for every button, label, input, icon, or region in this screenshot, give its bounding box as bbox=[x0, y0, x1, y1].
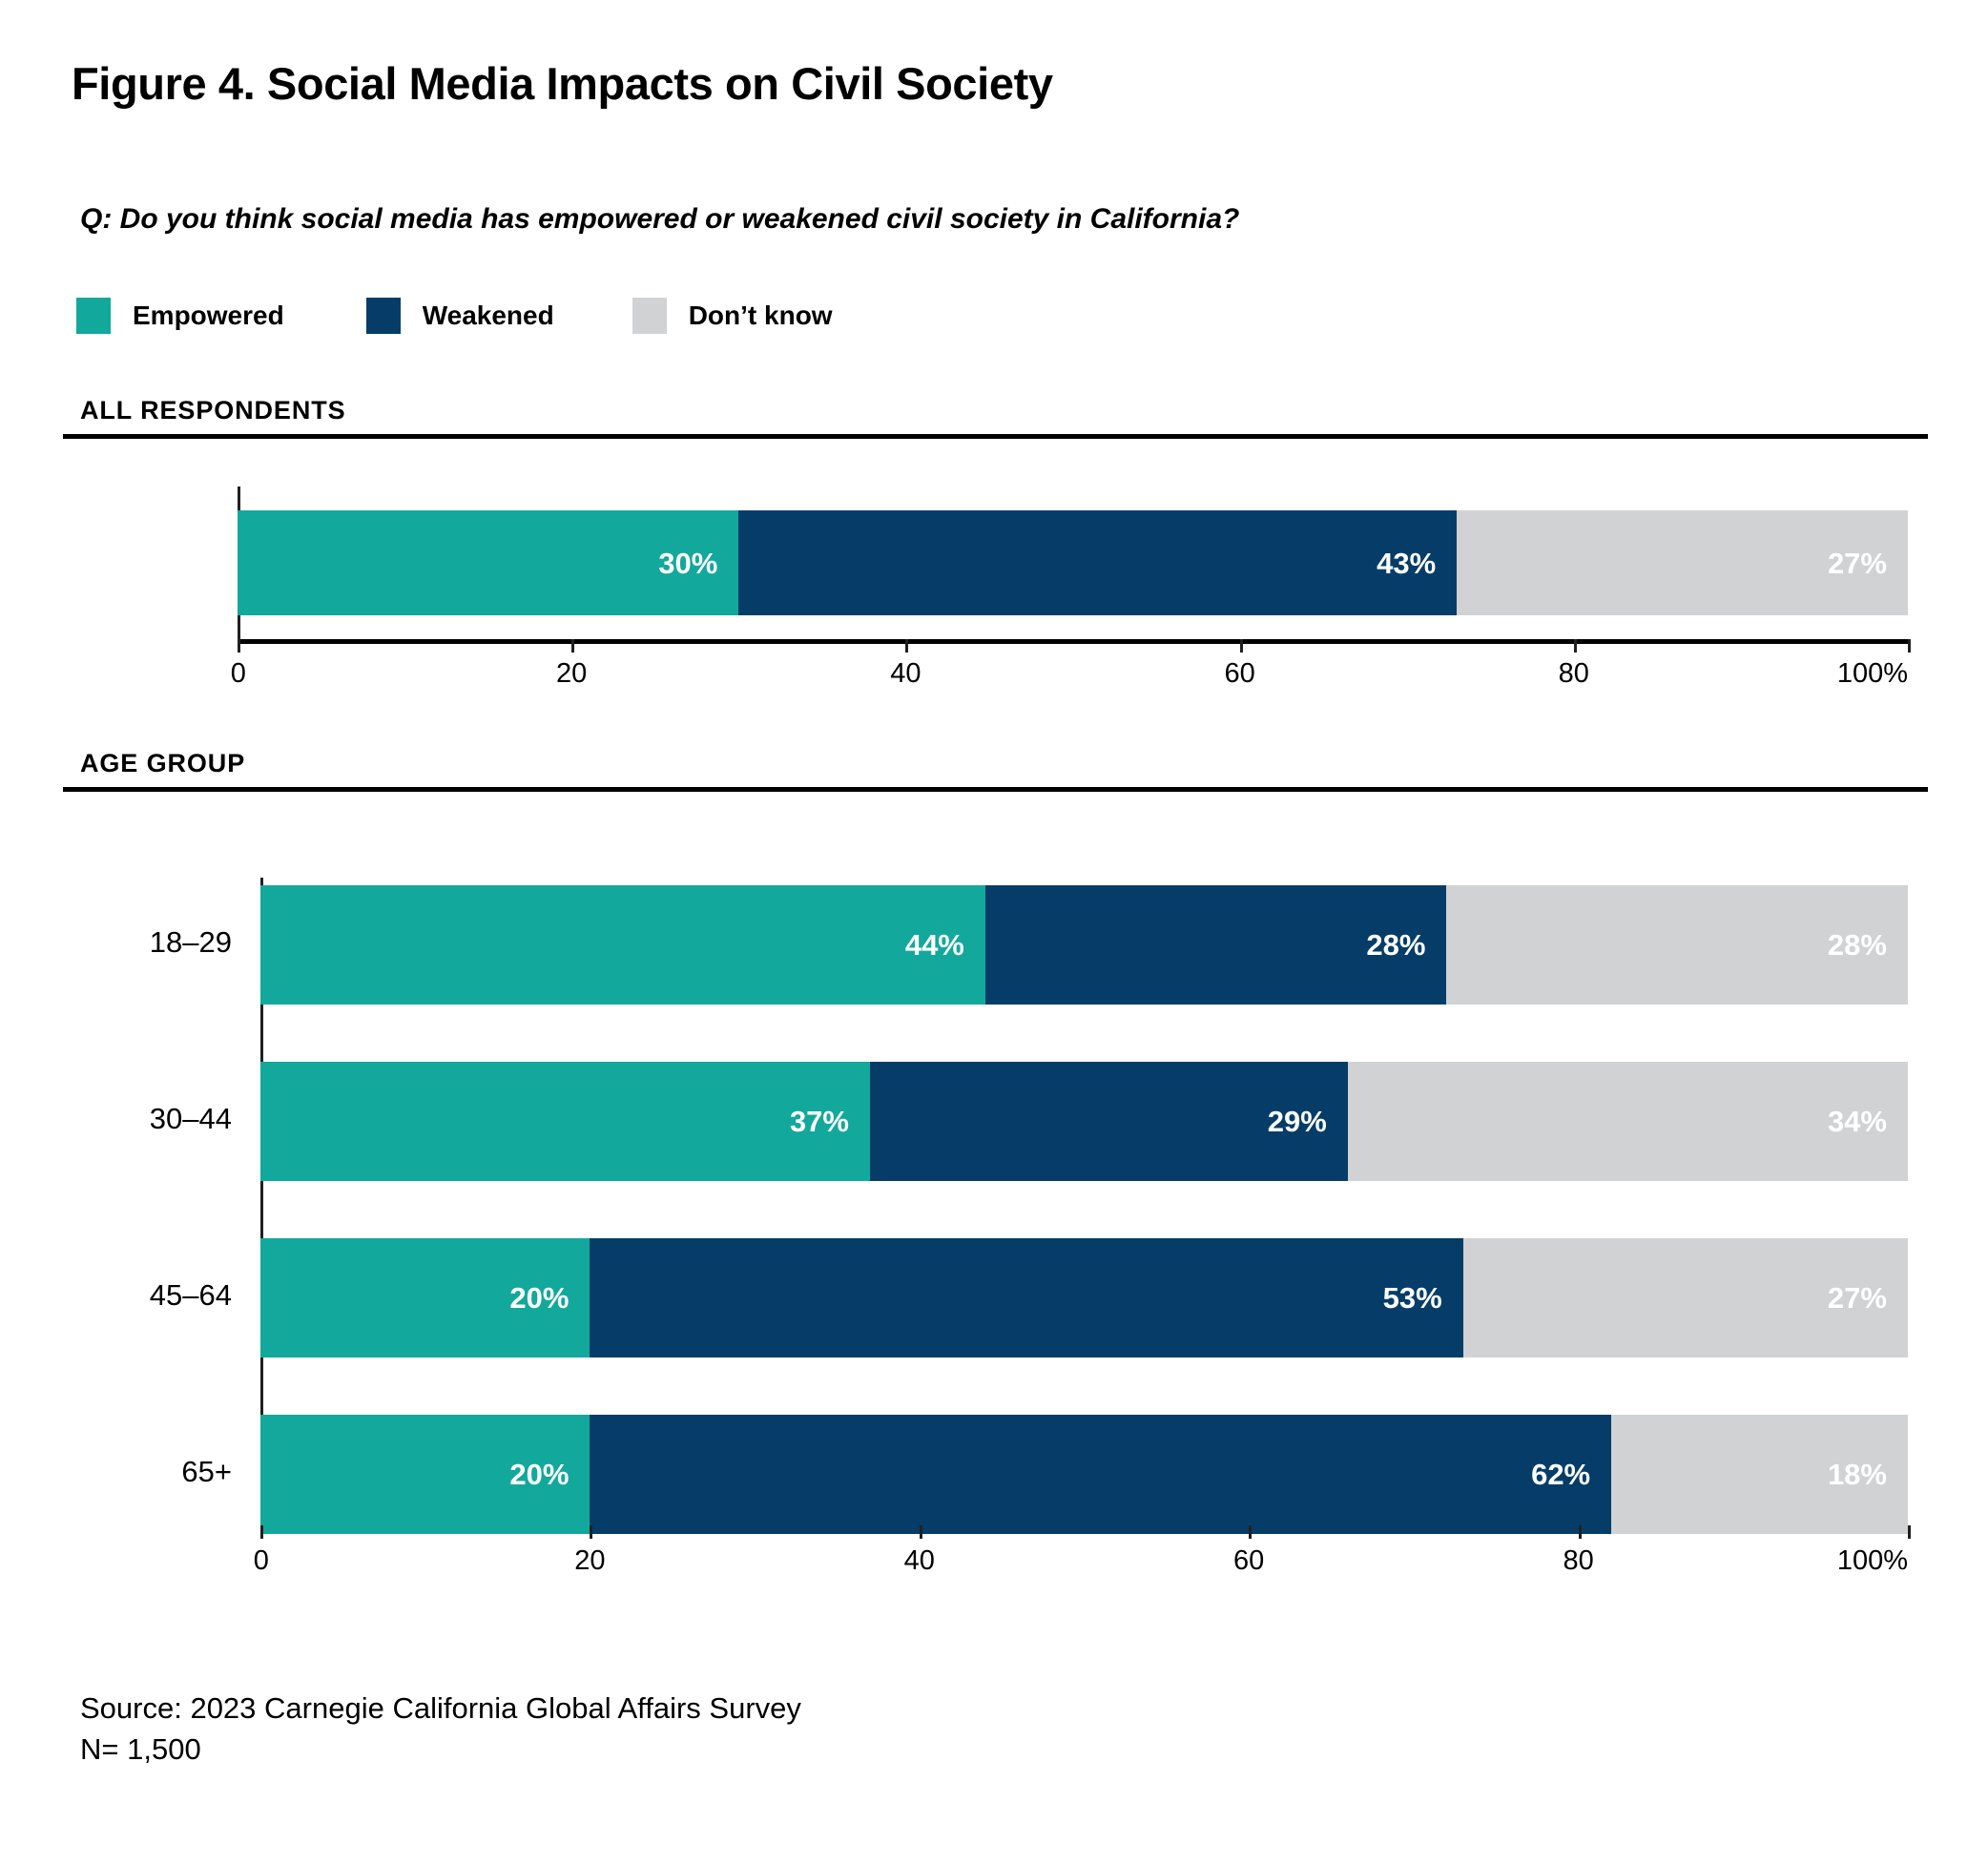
bar-segment-empowered: 20% bbox=[260, 1238, 590, 1357]
figure-canvas: Figure 4. Social Media Impacts on Civil … bbox=[0, 0, 1988, 1865]
bar-segment-empowered: 30% bbox=[238, 510, 738, 615]
bar-value-label: 62% bbox=[1531, 1460, 1611, 1489]
bar-segment-weakened: 62% bbox=[590, 1415, 1611, 1534]
bar-value-label: 29% bbox=[1268, 1107, 1348, 1136]
bar-value-label: 28% bbox=[1366, 930, 1446, 960]
x-axis-tick-label: 80 bbox=[1559, 658, 1589, 690]
x-axis-tick bbox=[1908, 639, 1911, 653]
y-axis-category-label: 65+ bbox=[12, 1455, 232, 1489]
legend: Empowered Weakened Don’t know bbox=[76, 296, 833, 336]
bar-value-label: 30% bbox=[658, 549, 738, 578]
source-line-2: N= 1,500 bbox=[80, 1730, 801, 1771]
legend-label-weakened: Weakened bbox=[423, 300, 554, 331]
x-axis-tick-label: 40 bbox=[904, 1545, 935, 1577]
page-title: Figure 4. Social Media Impacts on Civil … bbox=[72, 57, 1053, 110]
legend-swatch-empowered bbox=[76, 298, 111, 334]
section-divider bbox=[63, 434, 1928, 439]
chart-all-respondents: 30% 43% 27% 020406080100% bbox=[238, 487, 1908, 687]
bar-segment-empowered: 37% bbox=[260, 1062, 870, 1181]
bar-segment-weakened: 43% bbox=[738, 510, 1457, 615]
section-title-age-group: AGE GROUP bbox=[80, 749, 245, 778]
x-axis-tick bbox=[571, 639, 574, 653]
source-note: Source: 2023 Carnegie California Global … bbox=[80, 1689, 801, 1771]
bar-segment-dont-know: 18% bbox=[1611, 1415, 1908, 1534]
legend-label-empowered: Empowered bbox=[133, 300, 284, 331]
legend-item-dont-know: Don’t know bbox=[632, 296, 833, 336]
x-axis-tick-label: 80 bbox=[1563, 1545, 1593, 1577]
y-axis-category-label: 30–44 bbox=[12, 1102, 232, 1136]
x-axis-tick bbox=[260, 1525, 263, 1539]
legend-swatch-weakened bbox=[366, 298, 401, 334]
x-axis-tick-label: 20 bbox=[574, 1545, 605, 1577]
x-axis-tick bbox=[238, 639, 240, 653]
x-axis-tick-label: 100% bbox=[1837, 1545, 1908, 1577]
x-axis-tick bbox=[905, 639, 908, 653]
bar-segment-dont-know: 27% bbox=[1463, 1238, 1908, 1357]
bar-value-label: 44% bbox=[905, 930, 985, 960]
bar-value-label: 20% bbox=[509, 1460, 590, 1489]
table-row: 20%62%18% bbox=[260, 1415, 1908, 1534]
bar-segment-dont-know: 34% bbox=[1348, 1062, 1908, 1181]
x-axis-tick bbox=[1579, 1525, 1582, 1539]
bar-segment-empowered: 44% bbox=[260, 885, 985, 1005]
x-axis-tick bbox=[1908, 1525, 1911, 1539]
bar-value-label: 27% bbox=[1828, 1283, 1908, 1313]
bar-segment-dont-know: 27% bbox=[1457, 510, 1908, 615]
table-row: 44%28%28% bbox=[260, 885, 1908, 1005]
x-axis-tick-label: 40 bbox=[890, 658, 921, 690]
x-axis-tick-label: 20 bbox=[556, 658, 587, 690]
bar-segment-weakened: 53% bbox=[590, 1238, 1462, 1357]
bar-segment-weakened: 29% bbox=[870, 1062, 1348, 1181]
x-axis-tick bbox=[1240, 639, 1243, 653]
bar-value-label: 28% bbox=[1828, 930, 1908, 960]
bar-value-label: 53% bbox=[1383, 1283, 1463, 1313]
section-divider bbox=[63, 787, 1928, 792]
section-title-all-respondents: ALL RESPONDENTS bbox=[80, 396, 346, 425]
x-axis-tick-label: 100% bbox=[1837, 658, 1908, 690]
x-axis-tick-label: 0 bbox=[254, 1545, 269, 1577]
bar-value-label: 27% bbox=[1828, 549, 1908, 578]
table-row: 20%53%27% bbox=[260, 1238, 1908, 1357]
legend-item-empowered: Empowered bbox=[76, 296, 284, 336]
x-axis-tick bbox=[1574, 639, 1577, 653]
x-axis-tick-label: 0 bbox=[231, 658, 246, 690]
x-axis-line bbox=[238, 639, 1908, 644]
y-axis-category-label: 45–64 bbox=[12, 1278, 232, 1313]
source-line-1: Source: 2023 Carnegie California Global … bbox=[80, 1689, 801, 1730]
table-row: 37%29%34% bbox=[260, 1062, 1908, 1181]
table-row: 30% 43% 27% bbox=[238, 510, 1908, 615]
legend-swatch-dont-know bbox=[632, 298, 667, 334]
survey-question: Q: Do you think social media has empower… bbox=[80, 203, 1239, 236]
y-axis-category-label: 18–29 bbox=[12, 925, 232, 960]
chart-age-group: 44%28%28%37%29%34%20%53%27%20%62%18% 18–… bbox=[260, 878, 1908, 1250]
bar-segment-dont-know: 28% bbox=[1446, 885, 1908, 1005]
bar-value-label: 43% bbox=[1377, 549, 1457, 578]
x-axis-tick-label: 60 bbox=[1224, 658, 1254, 690]
bar-value-label: 18% bbox=[1828, 1460, 1908, 1489]
legend-item-weakened: Weakened bbox=[366, 296, 554, 336]
bar-segment-weakened: 28% bbox=[985, 885, 1447, 1005]
x-axis-tick bbox=[920, 1525, 922, 1539]
x-axis-tick-label: 60 bbox=[1233, 1545, 1264, 1577]
x-axis-tick bbox=[590, 1525, 592, 1539]
bar-segment-empowered: 20% bbox=[260, 1415, 590, 1534]
x-axis-tick bbox=[1249, 1525, 1252, 1539]
bar-value-label: 34% bbox=[1828, 1107, 1908, 1136]
bar-value-label: 20% bbox=[509, 1283, 590, 1313]
legend-label-dont-know: Don’t know bbox=[689, 300, 833, 331]
bar-value-label: 37% bbox=[790, 1107, 870, 1136]
